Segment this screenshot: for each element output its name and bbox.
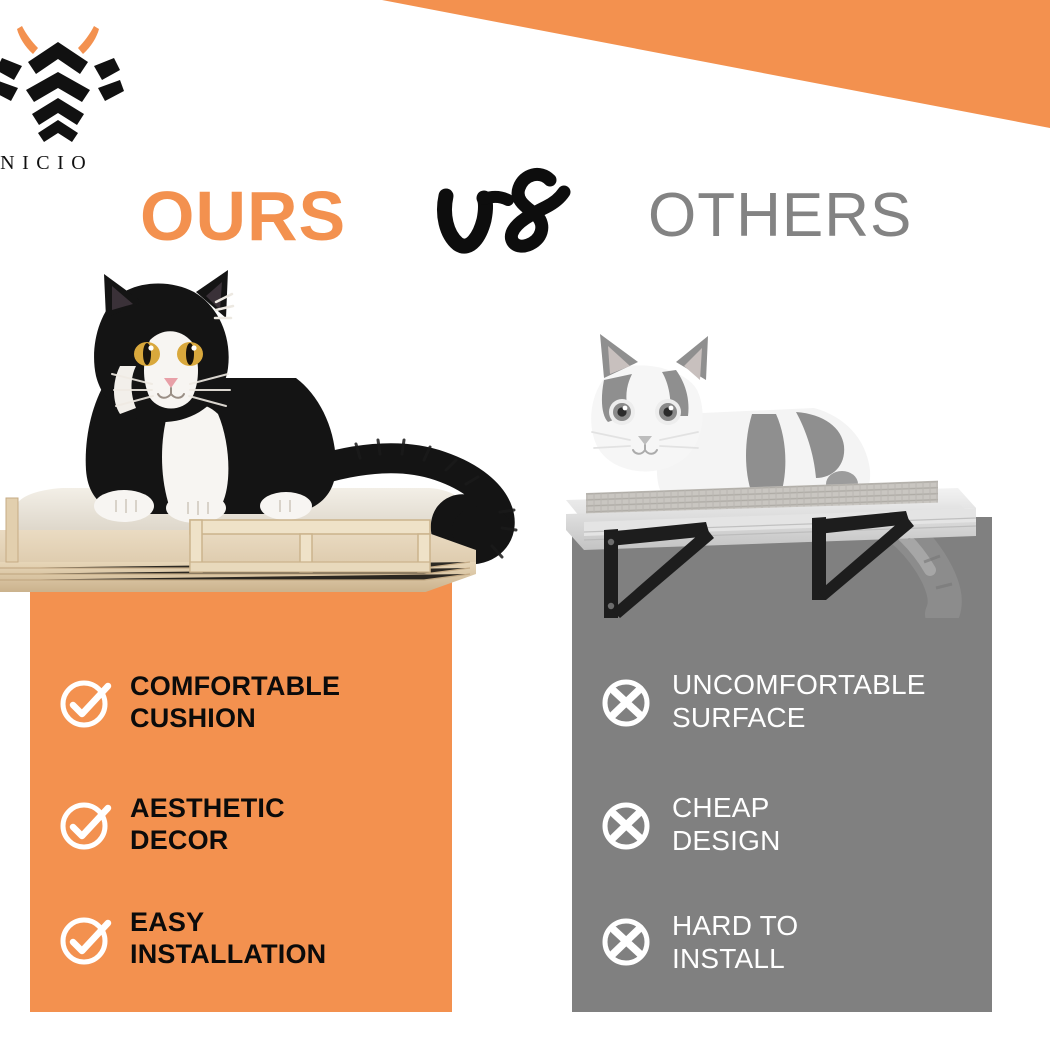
others-title: OTHERS [648, 180, 912, 251]
check-circle-icon [58, 798, 112, 852]
others-feature-row-1: UNCOMFORTABLE SURFACE [572, 640, 992, 764]
feature-label: UNCOMFORTABLE SURFACE [672, 669, 926, 735]
feature-label: HARD TO INSTALL [672, 910, 798, 976]
ours-feature-row-3: EASY INSTALLATION [30, 885, 452, 1012]
x-circle-icon [600, 675, 654, 729]
others-product-image [556, 318, 1026, 618]
check-circle-icon [58, 676, 112, 730]
ours-feature-row-1: COMFORTABLE CUSHION [30, 640, 452, 765]
corner-banner [0, 0, 1050, 132]
check-circle-icon [58, 913, 112, 967]
x-circle-icon [600, 798, 654, 852]
x-circle-icon [600, 914, 654, 968]
others-feature-row-2: CHEAP DESIGN [572, 770, 992, 880]
feature-label: CHEAP DESIGN [672, 792, 781, 858]
ours-feature-row-2: AESTHETIC DECOR [30, 771, 452, 879]
ours-product-image [0, 262, 520, 592]
feature-label: COMFORTABLE CUSHION [130, 671, 340, 734]
feature-label: EASY INSTALLATION [130, 907, 326, 970]
vs-script-icon [424, 156, 594, 266]
feature-label: AESTHETIC DECOR [130, 793, 285, 856]
comparison-infographic: INICIO OURS OTHERS [0, 0, 1050, 1040]
brand-logo: INICIO [0, 14, 124, 166]
ours-title: OURS [140, 176, 346, 256]
others-feature-row-3: HARD TO INSTALL [572, 886, 992, 1012]
